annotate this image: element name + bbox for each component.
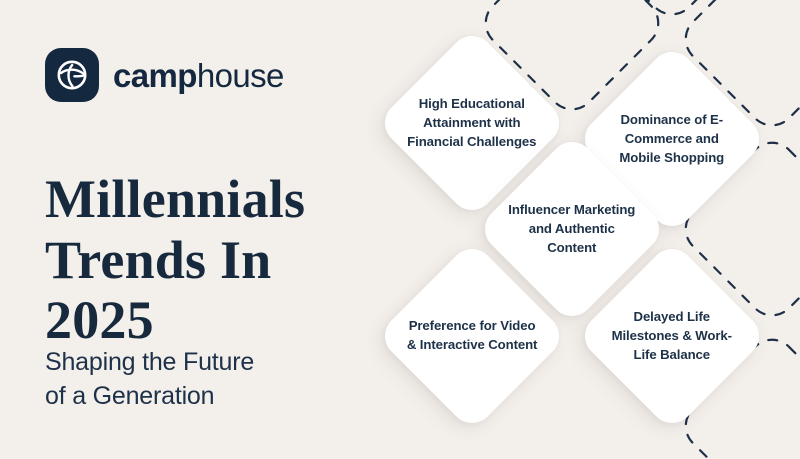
subtitle-line-1: Shaping the Future [45,348,254,376]
card-label: Preference for Video & Interactive Conte… [404,317,540,355]
brand-word-camp: camp [113,59,197,92]
page-subtitle: Shaping the Future of a Generation [45,346,365,414]
brand-logo[interactable]: camphouse [45,48,284,102]
subtitle-line-2: of a Generation [45,382,214,410]
infographic-canvas: High Educational Attainment with Financi… [0,0,800,459]
card-label: Influencer Marketing and Authentic Conte… [504,201,640,258]
headline-line-2: Trends In [45,230,271,290]
camphouse-globe-logo-icon [45,48,99,102]
brand-word-house: house [197,59,284,92]
brand-wordmark: camphouse [113,59,284,92]
headline-line-3: 2025 [45,290,154,350]
headline-line-1: Millennials [45,169,305,229]
card-label: Delayed Life Milestones & Work-Life Bala… [604,308,740,365]
card-label: High Educational Attainment with Financi… [404,95,540,152]
card-label: Dominance of E-Commerce and Mobile Shopp… [604,111,740,168]
page-title: Millennials Trends In 2025 [45,169,355,350]
title-panel: camphouse Millennials Trends In 2025 Sha… [0,0,380,459]
